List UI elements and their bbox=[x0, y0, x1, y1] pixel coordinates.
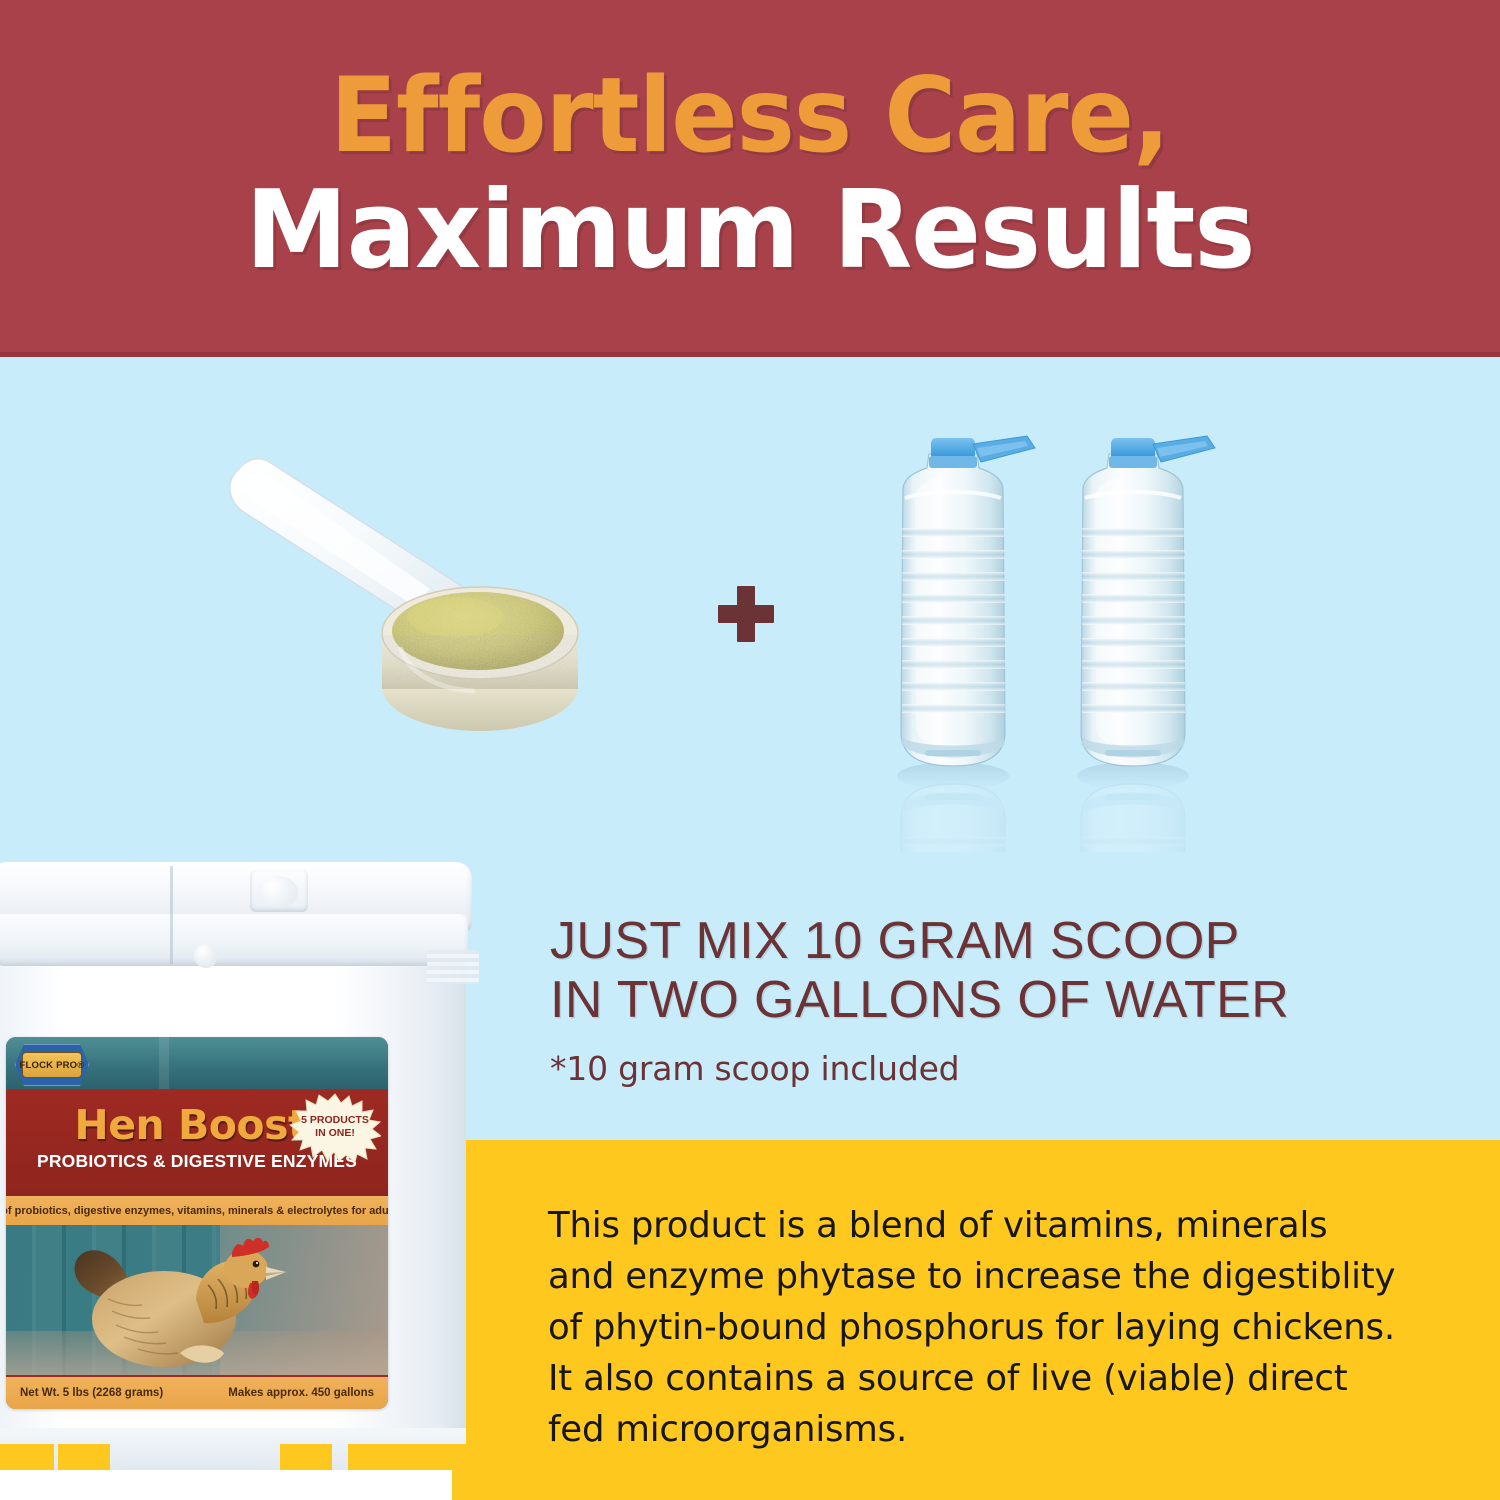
hen-illustration bbox=[68, 1233, 318, 1377]
bucket-base-notch bbox=[0, 1444, 54, 1470]
product-tagline: A blend of probiotics, digestive enzymes… bbox=[6, 1205, 388, 1217]
header-text-group: Effortless Care, Maximum Results bbox=[0, 0, 1500, 352]
bucket-base-notch bbox=[280, 1444, 332, 1470]
burst-line-1: 5 PRODUCTS bbox=[289, 1114, 381, 1127]
bucket-base-notch bbox=[58, 1444, 110, 1470]
instruction-note: *10 gram scoop included bbox=[550, 1049, 1430, 1088]
bucket-handle-ridge bbox=[427, 950, 479, 984]
bucket-lid-seam bbox=[170, 866, 173, 964]
label-top-photo-strip: FLOCK PRO® bbox=[6, 1037, 388, 1093]
instruction-line-1: JUST MIX 10 GRAM SCOOP bbox=[550, 912, 1430, 971]
mixing-instructions: JUST MIX 10 GRAM SCOOP IN TWO GALLONS OF… bbox=[550, 912, 1430, 1088]
headline-line-2: Maximum Results bbox=[245, 174, 1254, 287]
bucket-base-notch bbox=[348, 1444, 466, 1470]
five-products-burst: 5 PRODUCTS IN ONE! bbox=[289, 1092, 381, 1162]
yield-text: Makes approx. 450 gallons bbox=[228, 1387, 374, 1399]
bucket-lid-latch bbox=[250, 870, 308, 912]
label-chicken-photo bbox=[6, 1225, 388, 1377]
logo-plate: FLOCK PRO® bbox=[22, 1052, 82, 1078]
net-weight: Net Wt. 5 lbs (2268 grams) bbox=[20, 1387, 163, 1399]
instruction-line-2: IN TWO GALLONS OF WATER bbox=[550, 971, 1430, 1030]
product-bucket: FLOCK PRO® Hen Boost™ PROBIOTICS & DIGES… bbox=[0, 862, 487, 1470]
header-banner: Effortless Care, Maximum Results bbox=[0, 0, 1500, 357]
product-infographic: Effortless Care, Maximum Results This pr… bbox=[0, 0, 1500, 1500]
flock-pro-logo: FLOCK PRO® bbox=[15, 1044, 89, 1086]
description-panel: This product is a blend of vitamins, min… bbox=[452, 1140, 1500, 1500]
label-bottom-band: Net Wt. 5 lbs (2268 grams) Makes approx.… bbox=[6, 1375, 388, 1409]
water-bottles-icon bbox=[885, 432, 1285, 852]
description-text: This product is a blend of vitamins, min… bbox=[548, 1200, 1398, 1456]
burst-text: 5 PRODUCTS IN ONE! bbox=[289, 1114, 381, 1140]
scoop-icon bbox=[205, 435, 625, 775]
plus-icon bbox=[718, 586, 774, 642]
bucket-lid-rim bbox=[0, 914, 468, 966]
bucket-lid-pin bbox=[194, 944, 218, 968]
label-tagline-band: A blend of probiotics, digestive enzymes… bbox=[6, 1195, 388, 1225]
headline-line-1: Effortless Care, bbox=[330, 65, 1169, 168]
label-title-band: Hen Boost™ PROBIOTICS & DIGESTIVE ENZYME… bbox=[6, 1089, 388, 1197]
product-label: FLOCK PRO® Hen Boost™ PROBIOTICS & DIGES… bbox=[6, 1037, 388, 1409]
burst-line-2: IN ONE! bbox=[289, 1127, 381, 1140]
brand-name: FLOCK PRO® bbox=[20, 1060, 85, 1071]
